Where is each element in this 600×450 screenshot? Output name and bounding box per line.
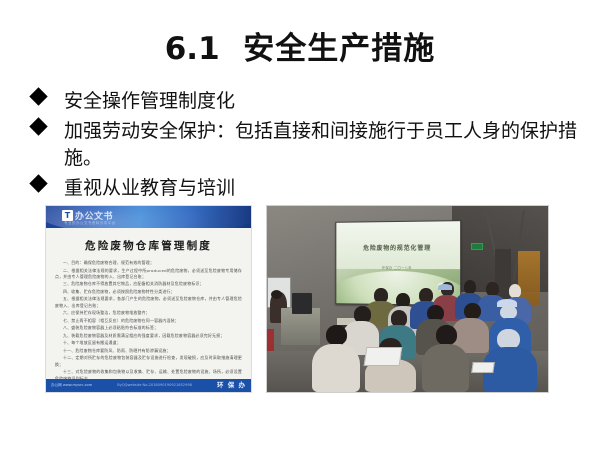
slide-canvas: 6.1 安全生产措施 安全操作管理制度化 加强劳动安全保护：包括直接和间接施行于… [0, 0, 600, 450]
bullet-item-2: 加强劳动安全保护：包括直接和间接施行于员工人身的保护措施。 [26, 118, 578, 172]
poster-paragraph: 九、装载危险废物容器及材质需满足相应的强度要求，因载危险废物容器必须完好无损； [55, 333, 242, 339]
poster-paragraph: 一、目的：确保危险废物合理、规范有效的管理； [55, 260, 242, 266]
poster-paragraph: 八、盛装危险废物容器上必须粘贴符合标准的标签； [55, 325, 242, 331]
poster-paragraph: 十、每个堆放区留有搬运通道； [55, 340, 242, 346]
regulation-poster-image: T 办公文书 专业的办公文书资料分享平台 危险废物仓库管理制度 一、目的：确保危… [45, 205, 252, 393]
bullet-item-1: 安全操作管理制度化 [26, 88, 578, 115]
audience-head [486, 282, 499, 296]
diamond-bullet-icon [29, 174, 47, 192]
poster-footer-mid: ByQQwebsite No.2018090190921852998 [117, 379, 192, 392]
media-row: T 办公文书 专业的办公文书资料分享平台 危险废物仓库管理制度 一、目的：确保危… [0, 204, 600, 394]
audience-head [436, 325, 457, 345]
photo-audience [267, 206, 548, 392]
poster-header-banner: T 办公文书 专业的办公文书资料分享平台 [46, 206, 251, 228]
audience-notebook [471, 362, 494, 373]
bullet-list: 安全操作管理制度化 加强劳动安全保护：包括直接和间接施行于员工人身的保护措施。 … [26, 88, 578, 205]
audience-head [326, 325, 347, 345]
poster-body-text: 一、目的：确保危险废物合理、规范有效的管理； 二、根据相关法律法规的要求，生产过… [55, 260, 242, 382]
audience-head [497, 329, 519, 349]
poster-footer-bar: 办公网 www.mysrc.com ByQQwebsite No.2018090… [46, 379, 251, 392]
audience-head [464, 303, 481, 320]
bullet-item-3-label: 重视从业教育与培训 [64, 175, 578, 202]
bullet-item-3: 重视从业教育与培训 [26, 175, 578, 202]
audience-body [312, 344, 360, 392]
page-title: 6.1 安全生产措施 [0, 32, 600, 68]
diamond-bullet-icon [29, 87, 47, 105]
audience-body [422, 344, 470, 392]
poster-footer-left: 办公网 www.mysrc.com [51, 379, 92, 392]
poster-paragraph: 七、禁止两不相容（相互反应）的危险废物在同一容器内混装； [55, 318, 242, 324]
audience-head [509, 284, 522, 298]
poster-paragraph: 十二、定期对所贮存的危险废物包装容器及贮存设施进行检查，发现破损，应及时采取措施… [55, 355, 242, 368]
audience-head [464, 280, 477, 294]
poster-paragraph: 六、应保持贮存现场整洁，危险废物堆放整齐； [55, 310, 242, 316]
poster-paragraph: 三、危险废物仓库不得放置其它物品，应配备相关消防器材及危险废物标识； [55, 281, 242, 287]
poster-logo-subtitle: 专业的办公文书资料分享平台 [64, 220, 116, 225]
poster-paragraph: 四、收集、贮存危险废物，必须按照危险废物特性分类进行； [55, 289, 242, 295]
poster-footer-right: 环 保 办 [217, 379, 246, 392]
audience-laptop [364, 347, 402, 366]
training-session-photo: 危险废物的规范化管理 环保办 二〇一八年 [266, 205, 549, 393]
poster-paragraph: 五、根据相关法律法规要求，各部门产生的危险废物，必须送至危险废物仓库，并由专人管… [55, 296, 242, 309]
bullet-item-1-label: 安全操作管理制度化 [64, 88, 578, 115]
bullet-item-2-label: 加强劳动安全保护：包括直接和间接施行于员工人身的保护措施。 [64, 118, 578, 172]
page-title-number: 6.1 [165, 31, 220, 67]
diamond-bullet-icon [29, 117, 47, 135]
poster-paragraph: 二、根据相关法律法规的要求，生产过程中所produced的危险废物，必须送至危险… [55, 268, 242, 281]
audience-cap [438, 284, 452, 290]
poster-paragraph: 十一、危险废物仓库要防风、防雨、防晒并有防渗漏设施； [55, 348, 242, 354]
page-title-text: 安全生产措施 [243, 31, 435, 67]
poster-title: 危险废物仓库管理制度 [46, 238, 251, 253]
